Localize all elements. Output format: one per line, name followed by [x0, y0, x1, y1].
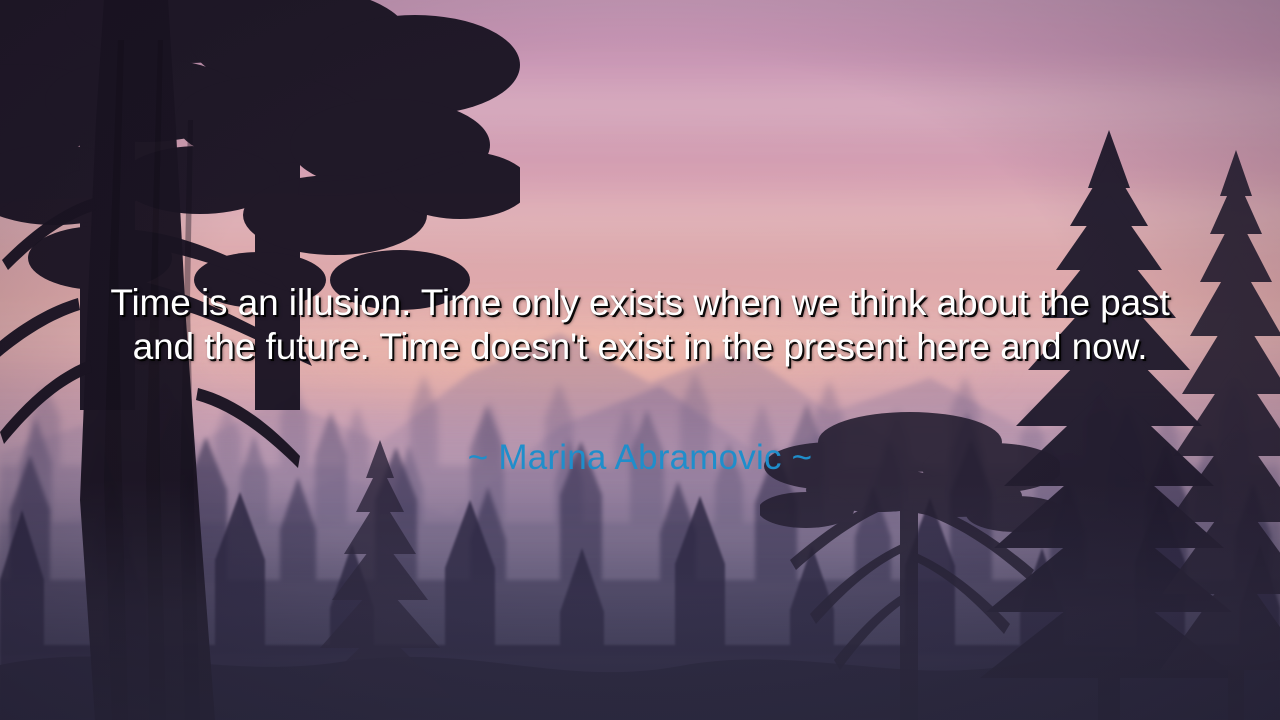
quote-image-scene: Time is an illusion. Time only exists wh…: [0, 0, 1280, 720]
foreground-tree-mid-left: [290, 440, 470, 720]
foreground-tree-right-edge: [1160, 150, 1280, 720]
foreground-tree-left-trunk: [0, 0, 300, 720]
foreground-tree-mid-right: [760, 380, 1060, 720]
